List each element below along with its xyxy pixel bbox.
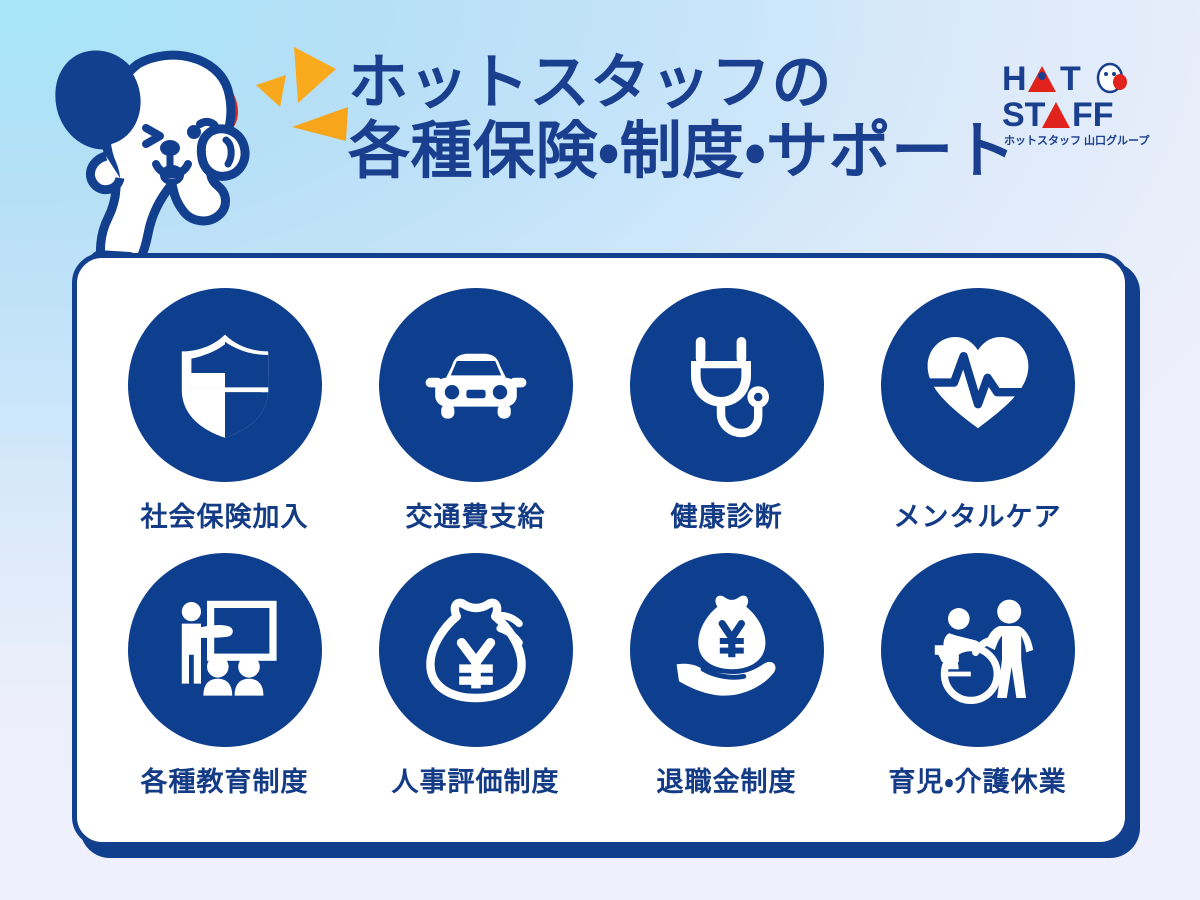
benefit-label: 交通費支給: [406, 495, 546, 534]
badge-circle: [881, 553, 1075, 747]
benefit-tile-kenkou-shindan[interactable]: 健康診断: [603, 288, 850, 553]
benefit-label: 健康診断: [671, 495, 783, 534]
hot-staff-logo: H T ST FF ホットスタッフ 山口グループ: [998, 56, 1158, 148]
badge-circle: [630, 553, 824, 747]
benefit-tile-kyouiku-seido[interactable]: 各種教育制度: [101, 553, 348, 818]
hand-money-bag-icon: [667, 590, 787, 710]
poster-canvas: ホットスタッフの 各種保険・制度・サポート H T ST FF ホットスタッフ …: [0, 0, 1200, 900]
benefits-card: 社会保険加入: [72, 253, 1130, 847]
badge-circle: [881, 288, 1075, 482]
heart-pulse-icon: [918, 325, 1038, 445]
benefit-label: 各種教育制度: [141, 760, 309, 799]
benefit-label: 退職金制度: [657, 760, 797, 799]
badge-circle: [128, 553, 322, 747]
benefit-label: 人事評価制度: [392, 760, 560, 799]
badge-circle: [379, 288, 573, 482]
benefit-tile-mental-care[interactable]: メンタルケア: [854, 288, 1101, 553]
svg-text:ST: ST: [1002, 96, 1046, 134]
benefit-tile-shakai-hoken[interactable]: 社会保険加入: [101, 288, 348, 553]
benefit-tile-ikuji-kaigo[interactable]: 育児・介護休業: [854, 553, 1101, 818]
badge-circle: [630, 288, 824, 482]
benefits-grid: 社会保険加入: [101, 288, 1101, 818]
benefit-tile-taishokukin[interactable]: 退職金制度: [603, 553, 850, 818]
car-icon: [416, 325, 536, 445]
benefit-label: 育児・介護休業: [888, 760, 1066, 799]
badge-circle: [128, 288, 322, 482]
benefit-tile-jinji-hyouka[interactable]: 人事評価制度: [352, 553, 599, 818]
benefit-tile-koutsuuhi[interactable]: 交通費支給: [352, 288, 599, 553]
logo-tagline: ホットスタッフ 山口グループ: [1004, 133, 1150, 147]
money-bag-yen-icon: [416, 590, 536, 710]
shield-icon: [165, 325, 285, 445]
svg-text:T: T: [1060, 60, 1081, 98]
svg-text:FF: FF: [1072, 96, 1114, 134]
training-board-icon: [165, 590, 285, 710]
svg-text:H: H: [1002, 60, 1028, 98]
badge-circle: [379, 553, 573, 747]
benefit-label: 社会保険加入: [141, 495, 309, 534]
stethoscope-icon: [667, 325, 787, 445]
benefit-label: メンタルケア: [894, 495, 1062, 534]
caregiving-wheelchair-icon: [918, 590, 1038, 710]
